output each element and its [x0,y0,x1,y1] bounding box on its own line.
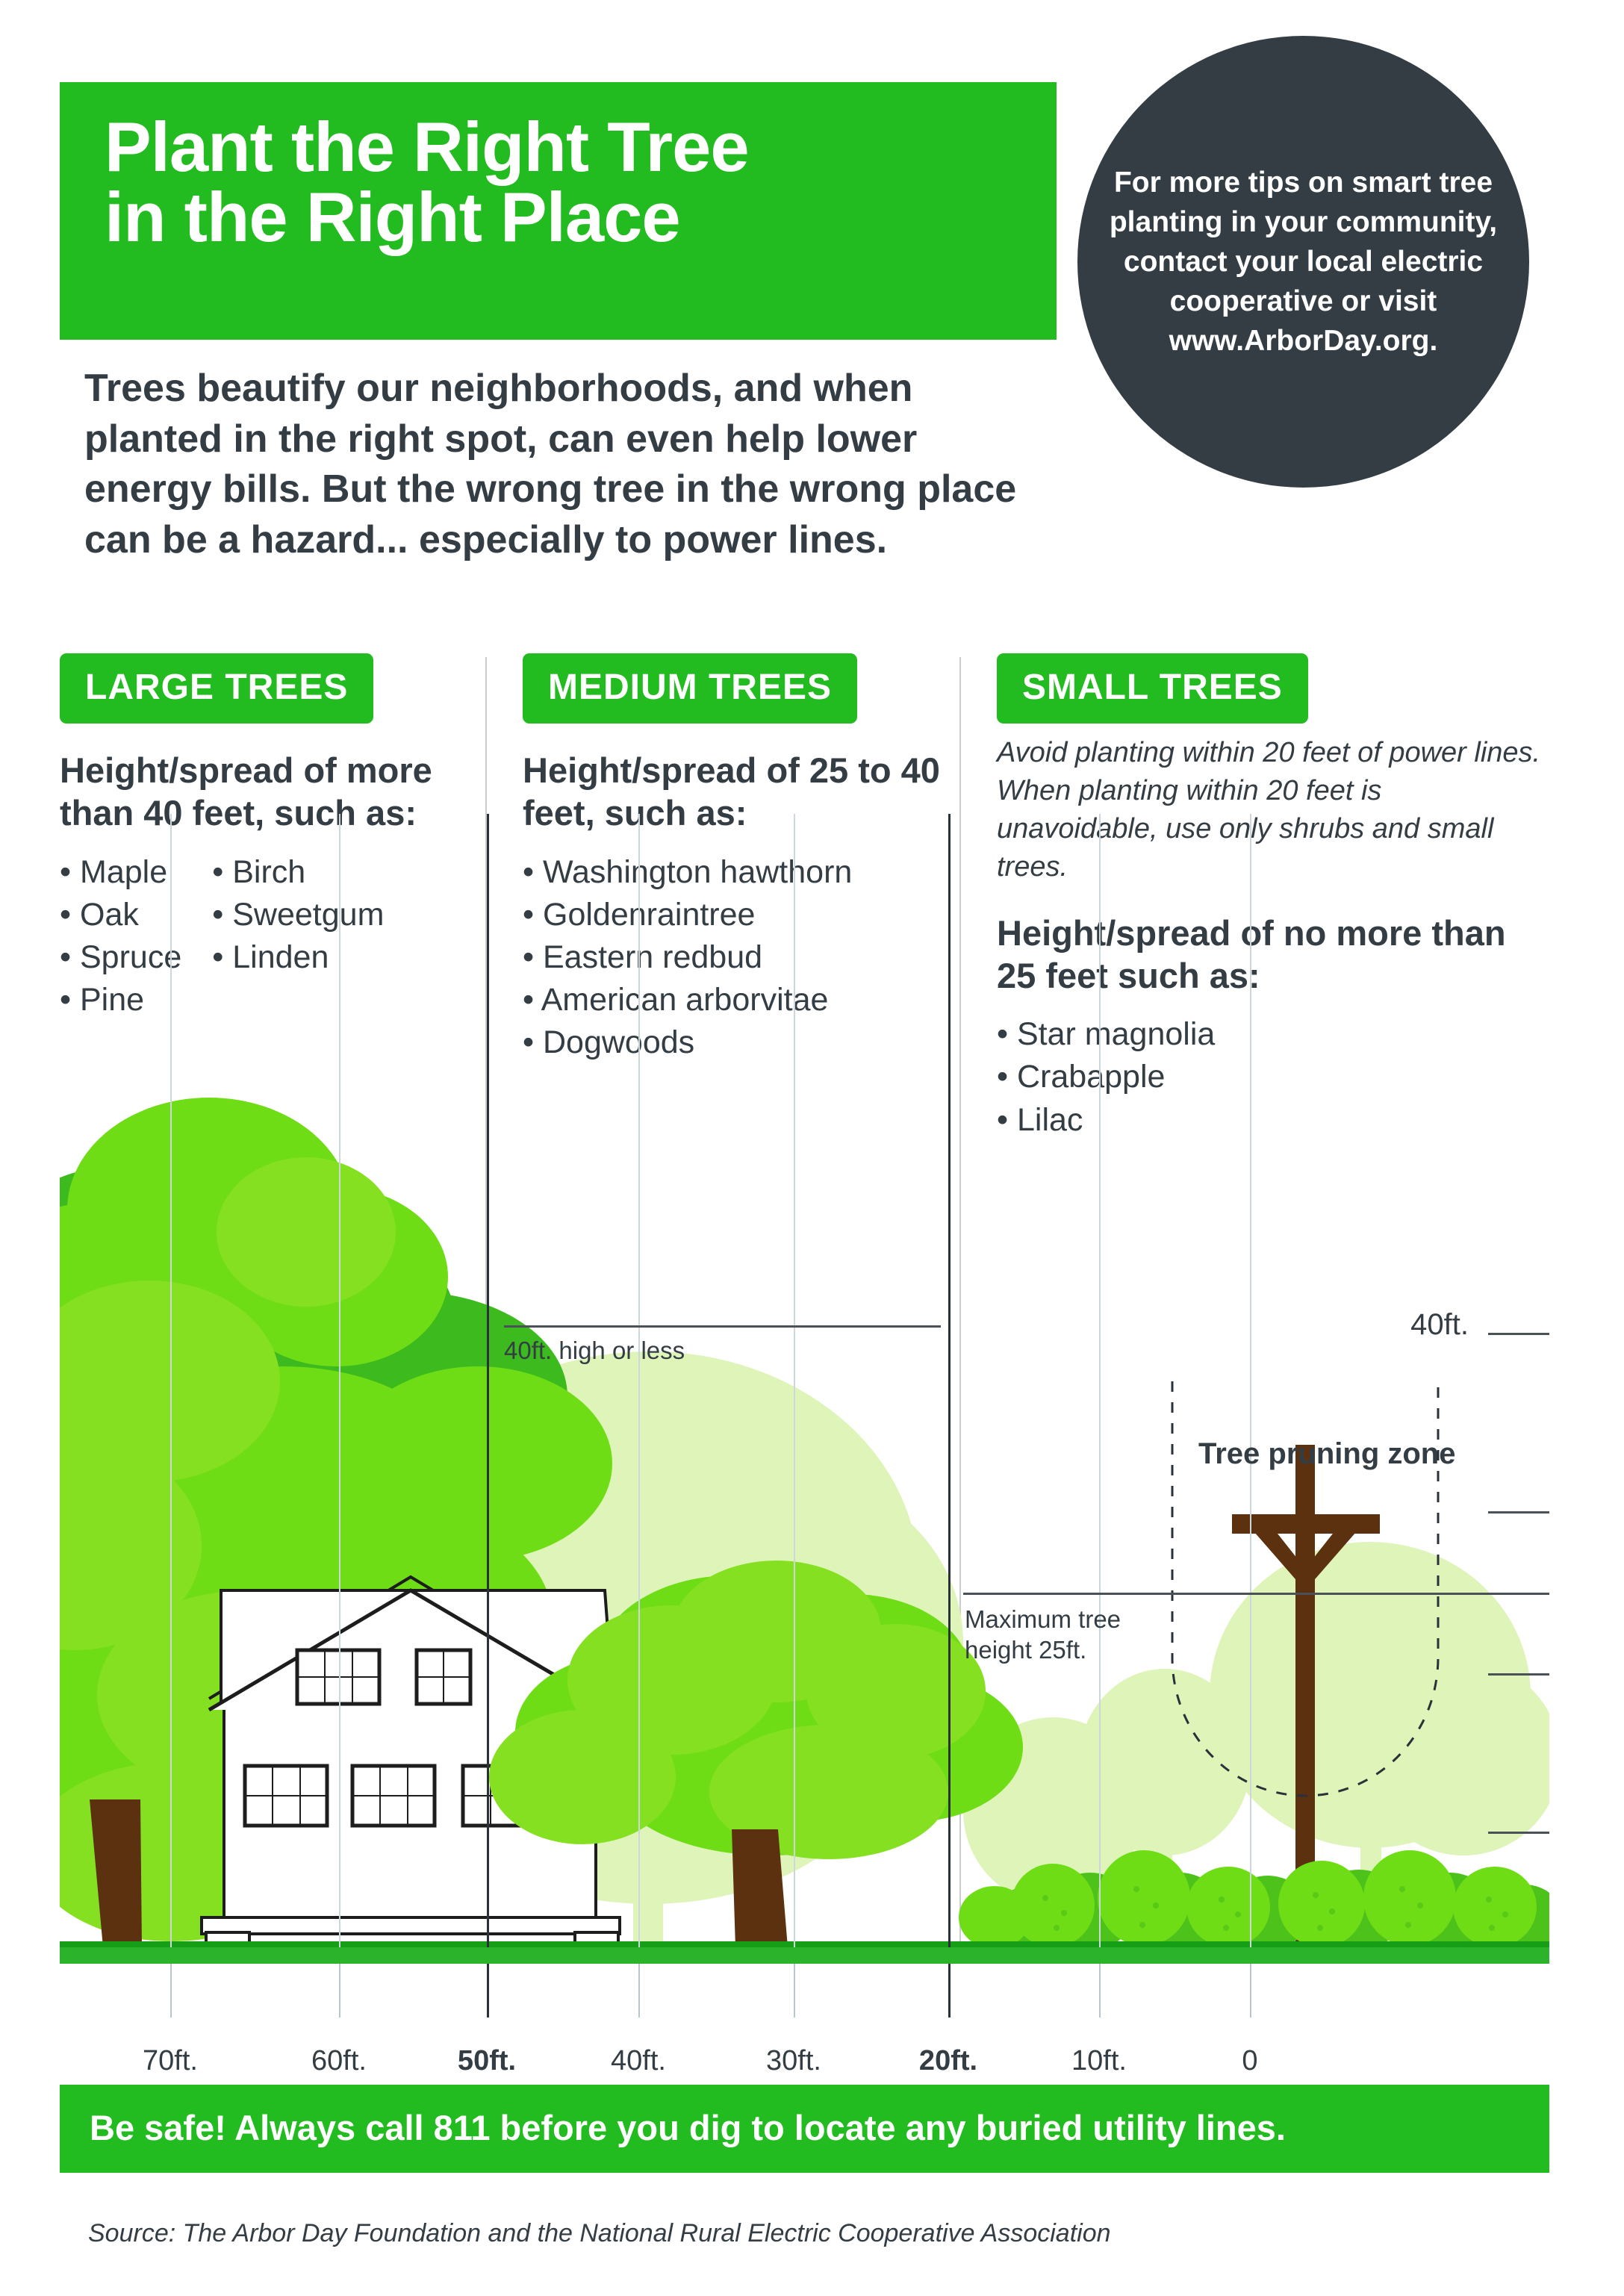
gridline-20ft [948,814,951,1947]
contact-badge-text: For more tips on smart tree planting in … [1102,163,1505,361]
pruning-zone-label: Tree pruning zone [1198,1437,1455,1471]
page-title-line-1: Plant the Right Tree [105,112,1075,182]
max-tree-height-line [963,1593,1549,1595]
safety-banner-text: Be safe! Always call 811 before you dig … [90,2107,1531,2149]
right-scale-tick-mid [1488,1673,1549,1676]
ground-line [60,1947,1549,1964]
right-scale-tick-lower [1488,1832,1549,1834]
right-scale-tick-upper [1488,1511,1549,1513]
gridline-70ft [170,814,172,1947]
medium-zone-label: 40ft. high or less [504,1337,685,1365]
infographic-page: Plant the Right Tree in the Right Place … [0,0,1624,2296]
tick-40ft [638,1964,640,2017]
tick-0ft [1250,1964,1251,2017]
x-axis-label-50ft: 50ft. [458,2045,516,2077]
tick-60ft [339,1964,340,2017]
tree-placement-diagram: 70ft. 60ft. 50ft. 40ft. 30ft. 20ft. 10ft… [60,814,1549,1964]
gridline-40ft [638,814,640,1947]
tick-20ft [948,1964,951,2017]
source-credit: Source: The Arbor Day Foundation and the… [88,2219,1111,2248]
x-axis-label-60ft: 60ft. [311,2045,367,2077]
x-axis-label-20ft: 20ft. [919,2045,977,2077]
gridline-60ft [339,814,340,1947]
contact-badge: For more tips on smart tree planting in … [1077,36,1529,488]
ground-highlight [60,1941,1549,1947]
chip-medium-trees: MEDIUM TREES [523,653,857,724]
right-scale-tick-40ft [1488,1333,1549,1335]
tick-70ft [170,1964,172,2017]
gridline-50ft [487,814,489,1947]
chip-small-trees: SMALL TREES [997,653,1308,724]
x-axis-label-70ft: 70ft. [143,2045,198,2077]
gridline-10ft [1099,814,1101,1947]
medium-zone-rule [504,1325,941,1328]
gridline-30ft [794,814,795,1947]
x-axis-label-0ft: 0 [1242,2045,1257,2077]
x-axis-label-10ft: 10ft. [1071,2045,1127,2077]
right-scale-label-40ft: 40ft. [1410,1308,1469,1342]
chip-large-trees: LARGE TREES [60,653,373,724]
medium-tree-trunk [732,1829,788,1947]
tick-50ft [487,1964,489,2017]
intro-paragraph: Trees beautify our neighborhoods, and wh… [84,364,1055,565]
x-axis-label-40ft: 40ft. [611,2045,666,2077]
tick-30ft [794,1964,795,2017]
x-axis-label-30ft: 30ft. [766,2045,821,2077]
shrub-row [959,1850,1549,1952]
gridline-0ft [1250,814,1251,1947]
max-tree-height-label: Maximum tree height 25ft. [965,1604,1181,1666]
diagram-illustration [60,814,1549,1964]
page-title: Plant the Right Tree in the Right Place [105,112,1075,252]
tick-10ft [1099,1964,1101,2017]
page-title-line-2: in the Right Place [105,182,1075,252]
